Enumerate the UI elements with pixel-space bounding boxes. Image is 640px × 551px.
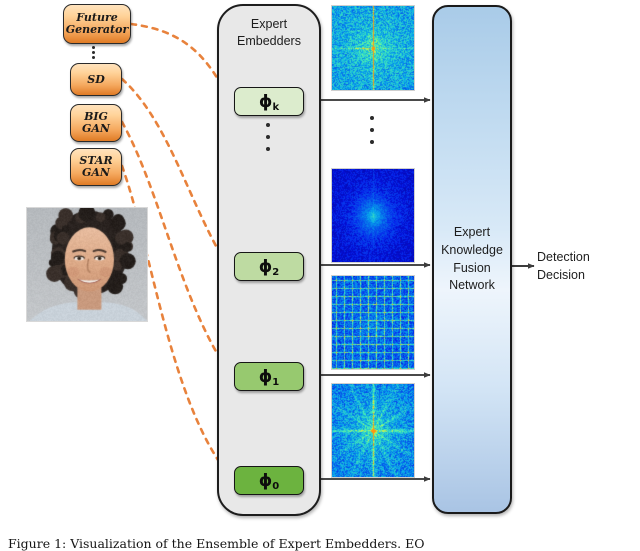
decision-line-1: Detection	[537, 249, 590, 267]
phi-k-label: ϕk	[259, 92, 279, 112]
frequency-spectrum-2	[331, 168, 415, 263]
phi-k-symbol: ϕ	[259, 92, 273, 112]
expert-embedder-phi-k[interactable]: ϕk	[234, 87, 304, 116]
fusion-network-label: Expert Knowledge Fusion Network	[441, 224, 503, 295]
phi-k-subscript: k	[272, 102, 279, 113]
phi-1-label: ϕ1	[259, 367, 280, 387]
expert-embedders-title: Expert Embedders	[219, 16, 319, 50]
generator-box-sd[interactable]: SD	[70, 63, 122, 96]
frequency-spectrum-1	[331, 275, 415, 370]
panel-title-line2: Embedders	[237, 34, 301, 48]
spectrum-vertical-ellipsis	[370, 116, 374, 144]
input-face-photo	[26, 207, 148, 322]
spectrum-2-canvas	[332, 169, 414, 262]
generator-box-stargan[interactable]: STARGAN	[70, 148, 122, 186]
phi-1-symbol: ϕ	[259, 367, 273, 387]
phi-0-symbol: ϕ	[259, 471, 273, 491]
detection-decision-label: Detection Decision	[537, 249, 590, 285]
fusion-line-3: Fusion	[441, 260, 503, 278]
expert-embedder-phi-1[interactable]: ϕ1	[234, 362, 304, 391]
star-gan-line-2: GAN	[82, 167, 110, 179]
panel-title-line1: Expert	[251, 17, 287, 31]
phi-2-label: ϕ2	[259, 257, 280, 277]
spectrum-0-canvas	[332, 384, 414, 477]
generator-box-biggan[interactable]: BIGGAN	[70, 104, 122, 142]
fusion-line-2: Knowledge	[441, 242, 503, 260]
generator-ellipsis	[91, 46, 95, 59]
phi-0-label: ϕ0	[259, 471, 280, 491]
generator-box-future[interactable]: FutureGenerator	[63, 4, 131, 44]
face-image	[27, 208, 147, 321]
big-gan-line-2: GAN	[82, 123, 110, 135]
expert-embedder-phi-0[interactable]: ϕ0	[234, 466, 304, 495]
frequency-spectrum-k	[331, 5, 415, 91]
sd-line-1: SD	[87, 74, 104, 86]
phi-0-subscript: 0	[272, 481, 279, 492]
future-generator-line-2: Generator	[66, 24, 129, 36]
figure-caption: Figure 1: Visualization of the Ensemble …	[8, 536, 632, 551]
expert-embedder-phi-2[interactable]: ϕ2	[234, 252, 304, 281]
expert-vertical-ellipsis	[266, 123, 270, 151]
frequency-spectrum-0	[331, 383, 415, 478]
phi-2-subscript: 2	[272, 267, 279, 278]
spectrum-1-canvas	[332, 276, 414, 369]
spectrum-k-canvas	[332, 6, 414, 90]
fusion-line-4: Network	[441, 277, 503, 295]
phi-1-subscript: 1	[272, 377, 279, 388]
fusion-line-1: Expert	[441, 224, 503, 242]
expert-knowledge-fusion-network[interactable]: Expert Knowledge Fusion Network	[432, 5, 512, 514]
decision-line-2: Decision	[537, 267, 590, 285]
figure-canvas: FutureGenerator SD BIGGAN STARGAN Expert…	[0, 0, 640, 547]
phi-2-symbol: ϕ	[259, 257, 273, 277]
